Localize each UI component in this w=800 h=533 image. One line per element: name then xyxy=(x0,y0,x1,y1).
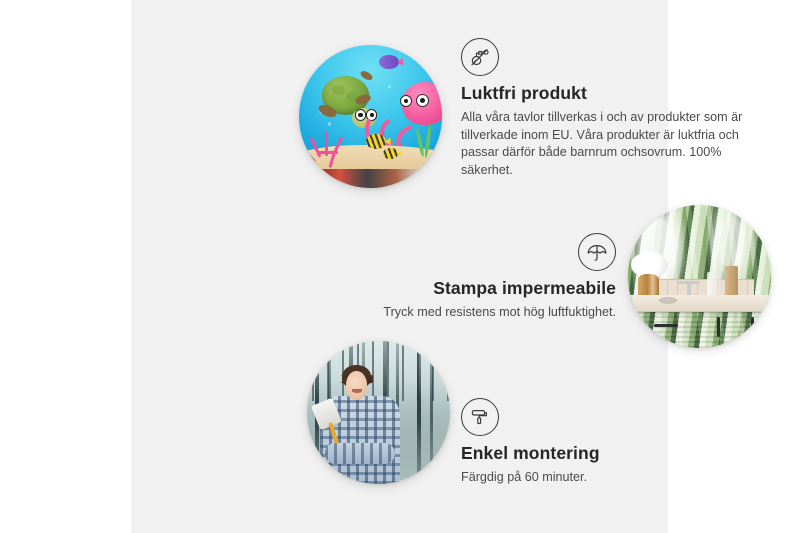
feature-luktfri-produkt: Luktfri produkt Alla våra tavlor tillver… xyxy=(461,38,761,179)
cabinet-handle xyxy=(717,317,720,337)
product-image-woman-with-paint-roller-forest[interactable] xyxy=(307,341,450,484)
striped-fish-icon xyxy=(383,148,397,159)
face xyxy=(346,371,368,400)
feature-body: Färgdig på 60 minuter. xyxy=(461,469,691,487)
feature-title: Luktfri produkt xyxy=(461,83,761,104)
content-panel: Luktfri produkt Alla våra tavlor tillver… xyxy=(131,0,668,533)
underwater-scene-art xyxy=(299,45,442,188)
smile xyxy=(352,389,361,393)
woman-figure xyxy=(318,364,401,484)
octopus-eye xyxy=(400,95,412,107)
cabinet-handle xyxy=(751,317,754,337)
feature-title: Enkel montering xyxy=(461,443,691,464)
screenshot-root: Luktfri produkt Alla våra tavlor tillver… xyxy=(0,0,800,533)
feature-enkel-montering: Enkel montering Färgdig på 60 minuter. xyxy=(461,398,691,487)
feature-body: Tryck med resistens mot hög luftfuktighe… xyxy=(346,304,616,322)
umbrella-icon xyxy=(578,233,616,271)
no-odour-spray-bottle-icon xyxy=(461,38,499,76)
pink-coral xyxy=(308,131,351,171)
product-image-bathroom-botanical-wallpaper[interactable] xyxy=(628,205,771,348)
crossed-arms xyxy=(325,443,395,463)
product-image-underwater-kids-scene[interactable] xyxy=(299,45,442,188)
forest-mural-scene-art xyxy=(307,341,450,484)
feature-body: Alla våra tavlor tillverkas i och av pro… xyxy=(461,109,761,179)
feature-title: Stampa impermeabile xyxy=(346,278,616,299)
octopus-eye xyxy=(416,94,429,107)
paint-roller-icon xyxy=(461,398,499,436)
turtle-eye xyxy=(355,109,366,120)
image-bottom-strip xyxy=(299,169,442,188)
feature-stampa-impermeabile: Stampa impermeabile Tryck med resistens … xyxy=(346,233,616,322)
soap-dish xyxy=(659,297,676,304)
marble-countertop xyxy=(628,295,771,312)
drawer-handle xyxy=(654,324,678,327)
bathroom-scene-art xyxy=(628,205,771,348)
